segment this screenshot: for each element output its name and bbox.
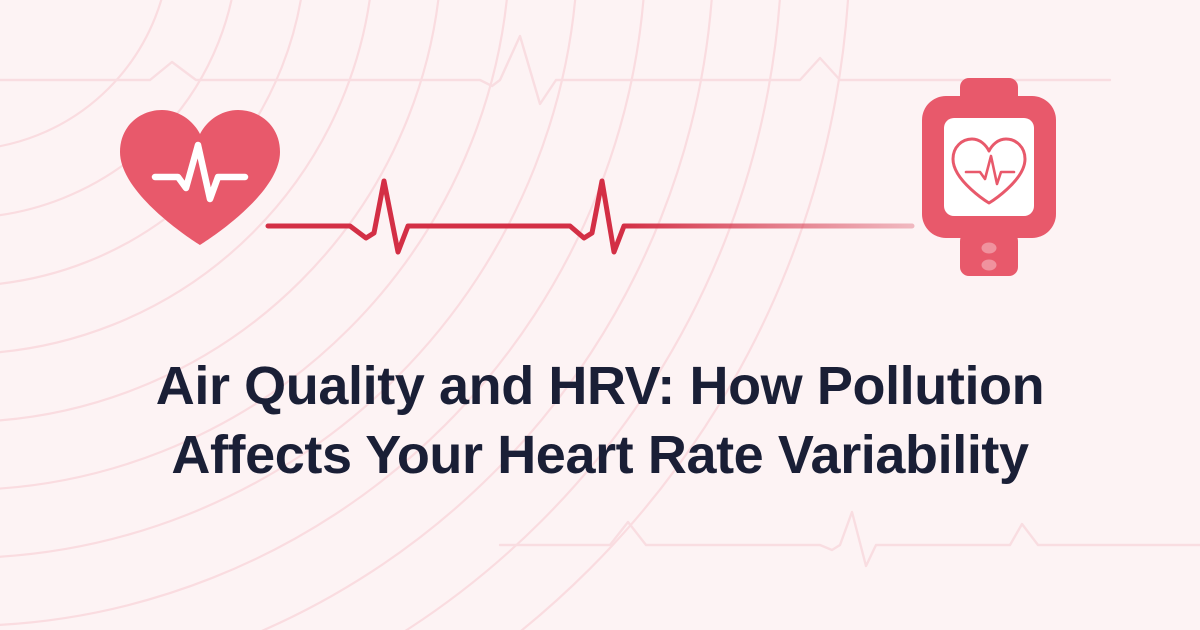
- page-title: Air Quality and HRV: How Pollution Affec…: [80, 352, 1120, 490]
- title-block: Air Quality and HRV: How Pollution Affec…: [0, 352, 1200, 490]
- smartwatch-icon: [922, 78, 1056, 276]
- ecg-connector-line: [268, 181, 912, 252]
- heart-with-pulse-icon: [120, 110, 280, 245]
- og-image-card: Air Quality and HRV: How Pollution Affec…: [0, 0, 1200, 630]
- watch-button-dot-2: [982, 260, 997, 271]
- watch-button-dot-1: [982, 243, 997, 254]
- heart-shape: [120, 110, 280, 245]
- hero-illustration: [0, 0, 1200, 630]
